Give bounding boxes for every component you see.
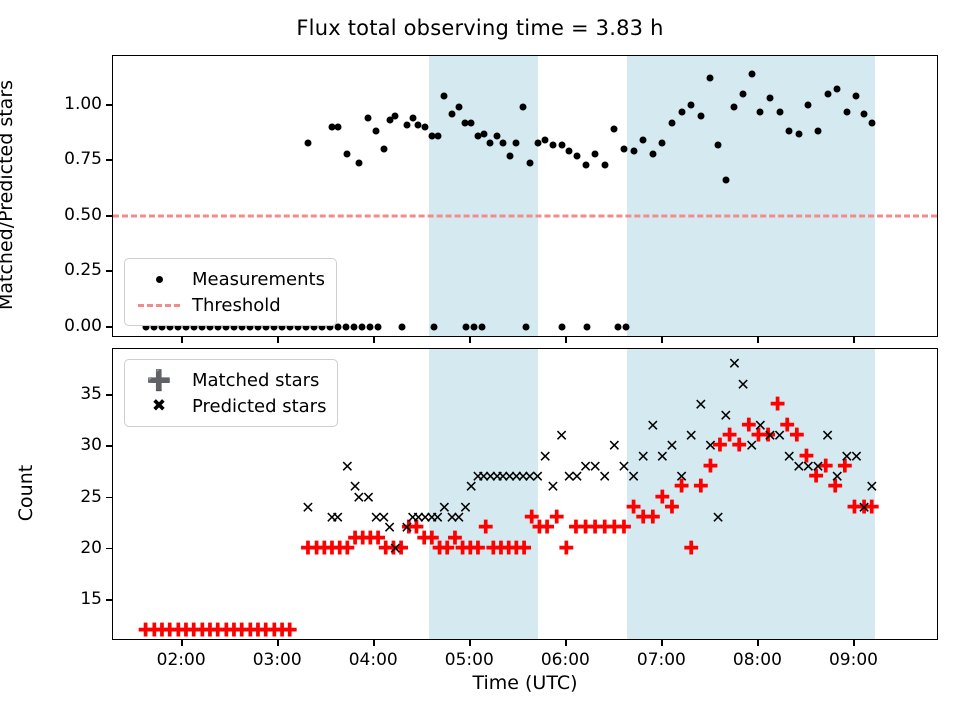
- y-tick: [106, 394, 112, 396]
- x-tick-label: 04:00: [349, 650, 398, 670]
- y-tick: [106, 445, 112, 447]
- x-tick: [661, 640, 663, 646]
- x-tick: [565, 640, 567, 646]
- x-tick-label: 08:00: [733, 650, 782, 670]
- x-tick: [277, 640, 279, 646]
- y-tick: [106, 599, 112, 601]
- x-tick-label: 02:00: [157, 650, 206, 670]
- figure-root: Flux total observing time = 3.83 h 0.000…: [0, 0, 960, 720]
- cross-marker-icon: ✖: [134, 398, 184, 415]
- y-tick-label: 30: [80, 435, 102, 455]
- legend-label-predicted: Predicted stars: [184, 396, 326, 417]
- x-tick-label: 07:00: [637, 650, 686, 670]
- bottom-legend: ➕ Matched stars ✖ Predicted stars: [124, 359, 338, 427]
- x-tick: [373, 640, 375, 646]
- x-tick: [469, 640, 471, 646]
- legend-label-matched: Matched stars: [184, 370, 319, 391]
- x-axis-label: Time (UTC): [112, 672, 938, 694]
- y-tick-label: 15: [80, 589, 102, 609]
- bottom-y-axis-label: Count: [15, 347, 37, 639]
- x-tick: [853, 640, 855, 646]
- x-tick-label: 03:00: [253, 650, 302, 670]
- y-tick-label: 35: [80, 384, 102, 404]
- legend-item-matched-stars: ➕ Matched stars: [134, 367, 326, 393]
- x-tick-label: 05:00: [445, 650, 494, 670]
- y-tick-label: 25: [80, 487, 102, 507]
- y-tick: [106, 497, 112, 499]
- x-tick-label: 06:00: [541, 650, 590, 670]
- plus-marker-icon: ➕: [134, 370, 184, 390]
- y-tick-label: 20: [80, 538, 102, 558]
- x-tick: [181, 640, 183, 646]
- y-tick: [106, 548, 112, 550]
- x-tick-label: 09:00: [829, 650, 878, 670]
- legend-item-predicted-stars: ✖ Predicted stars: [134, 393, 326, 419]
- x-tick: [757, 640, 759, 646]
